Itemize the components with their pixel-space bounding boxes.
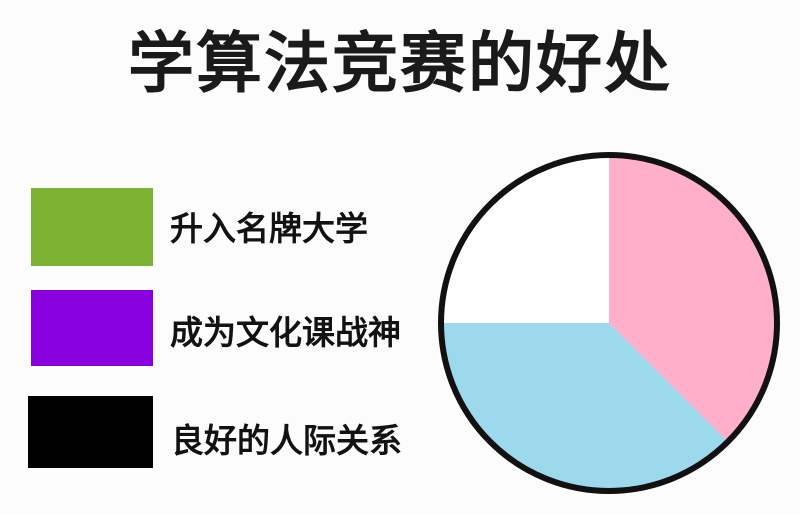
legend-item-0[interactable]: 升入名牌大学: [28, 182, 428, 286]
legend-item-2[interactable]: 良好的人际关系: [28, 390, 428, 494]
poster-canvas: 学算法竞赛的好处 升入名牌大学 成为文化课战神 良好的人际关系: [0, 0, 800, 515]
pie-chart: [437, 151, 781, 495]
legend-item-1[interactable]: 成为文化课战神: [28, 286, 428, 390]
pie-chart-svg: [437, 151, 781, 495]
legend-label-0: 升入名牌大学: [170, 190, 368, 268]
legend-label-1: 成为文化课战神: [170, 294, 401, 372]
page-title: 学算法竞赛的好处: [0, 28, 800, 100]
green-swatch: [31, 188, 153, 266]
legend-label-2: 良好的人际关系: [171, 402, 402, 480]
black-swatch: [28, 396, 153, 468]
chart-legend: 升入名牌大学 成为文化课战神 良好的人际关系: [28, 182, 428, 494]
purple-swatch: [31, 290, 153, 366]
